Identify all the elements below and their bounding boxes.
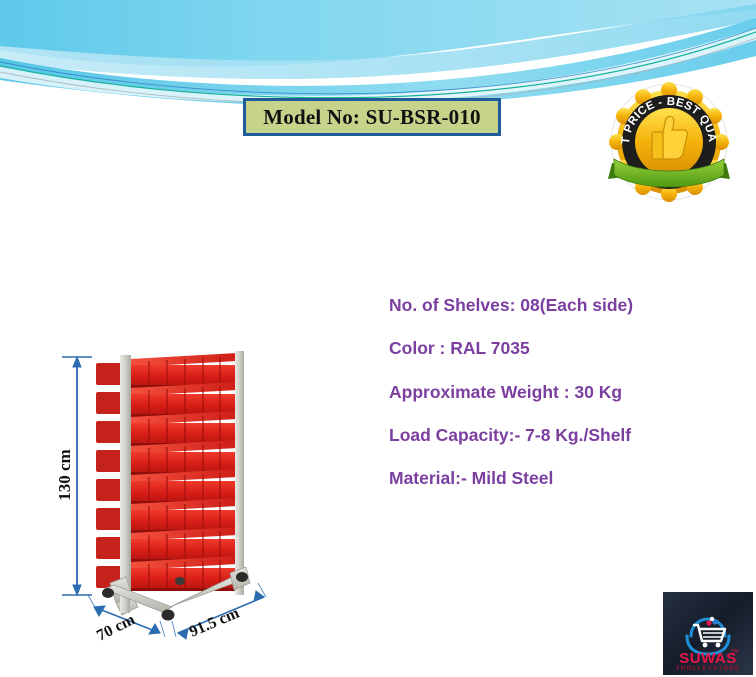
bin-row [131,440,237,475]
dimension-label-width: 91.5 cm [187,604,243,640]
bin-grid [131,353,237,591]
bin-row [131,527,237,562]
arrowhead-down [73,585,81,595]
bin-row [131,498,237,533]
model-number-box: Model No: SU-BSR-010 [243,98,501,136]
suwas-trolleystore-logo: SUWAS TM TROLLEYSTORE [663,592,753,675]
specifications-list: No. of Shelves: 08(Each side) Color : RA… [389,296,729,488]
model-number-label: Model No: SU-BSR-010 [263,105,481,130]
product-illustration: 130 cm 70 cm 91.5 cm [52,345,292,650]
bin-row [131,353,237,388]
caster [102,588,114,598]
spec-color: Color : RAL 7035 [389,339,729,358]
spec-material: Material:- Mild Steel [389,469,729,488]
rear-bin-column [96,363,122,588]
dimension-label-height: 130 cm [55,449,74,500]
specification-sheet: Model No: SU-BSR-010 [0,0,756,677]
logo-trademark: TM [731,649,738,655]
spec-weight: Approximate Weight : 30 Kg [389,383,729,402]
rack-post-left [120,355,131,605]
arrowhead-width-b [254,591,264,601]
bin-row [131,411,237,446]
badge-svg: BEST PRICE - BEST QUALITY [606,79,732,205]
bin-row [131,382,237,417]
bin-rack-svg: 130 cm 70 cm 91.5 cm [52,345,292,650]
spec-shelves: No. of Shelves: 08(Each side) [389,296,729,315]
arrowhead-width-a [178,629,188,639]
caster [236,572,248,582]
logo-tagline: TROLLEYSTORE [676,665,740,672]
caster [175,577,185,585]
arrowhead-up [73,357,81,367]
best-price-best-quality-badge: BEST PRICE - BEST QUALITY [606,79,732,205]
rack-post-right [235,351,244,595]
caster [162,610,175,621]
bin-row [131,469,237,504]
brand-logo-svg: SUWAS TM TROLLEYSTORE [663,592,753,675]
spec-load-capacity: Load Capacity:- 7-8 Kg./Shelf [389,426,729,445]
